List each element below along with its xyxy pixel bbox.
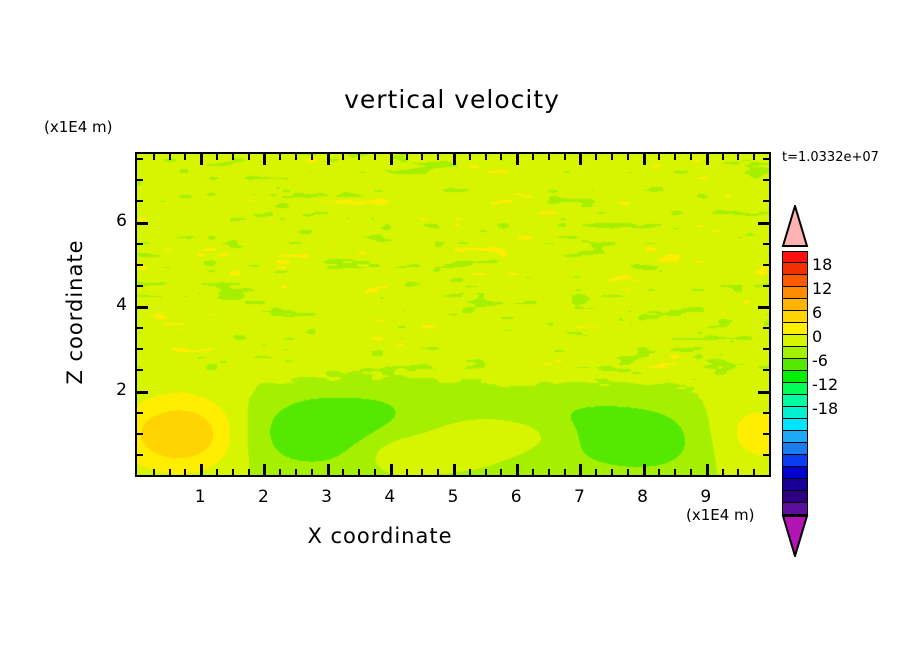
axis-tick xyxy=(737,154,739,160)
axis-tick xyxy=(758,306,769,309)
axis-tick xyxy=(485,154,487,160)
x-axis-title: X coordinate xyxy=(0,524,760,548)
colorbar-tick-label: -18 xyxy=(812,399,838,418)
colorbar-band xyxy=(782,323,808,335)
axis-tick xyxy=(548,469,550,475)
axis-tick xyxy=(753,154,755,160)
axis-tick xyxy=(153,469,155,475)
colorbar-band xyxy=(782,419,808,431)
x-tick-label: 2 xyxy=(238,487,288,507)
axis-tick xyxy=(485,469,487,475)
axis-tick xyxy=(200,154,203,165)
axis-tick xyxy=(737,469,739,475)
axis-tick xyxy=(137,179,143,181)
axis-tick xyxy=(295,469,297,475)
axis-tick xyxy=(137,369,143,371)
axis-tick xyxy=(763,243,769,245)
axis-tick xyxy=(327,154,330,165)
axis-tick xyxy=(579,464,582,475)
axis-tick xyxy=(763,285,769,287)
axis-tick xyxy=(706,154,709,165)
axis-tick xyxy=(437,469,439,475)
axis-tick xyxy=(763,200,769,202)
axis-tick xyxy=(763,158,769,160)
axis-tick xyxy=(579,154,582,165)
timestamp-annotation: t=1.0332e+07 xyxy=(782,150,879,165)
axis-tick xyxy=(611,469,613,475)
axis-tick xyxy=(500,154,502,160)
axis-tick xyxy=(595,469,597,475)
colorbar-tick-label: -6 xyxy=(812,351,828,370)
axis-tick xyxy=(753,469,755,475)
axis-tick xyxy=(137,285,143,287)
axis-tick xyxy=(722,154,724,160)
axis-tick xyxy=(232,154,234,160)
axis-tick xyxy=(279,469,281,475)
axis-tick xyxy=(690,469,692,475)
axis-tick xyxy=(627,469,629,475)
x-tick-label: 6 xyxy=(491,487,541,507)
axis-tick xyxy=(137,222,148,225)
colorbar-band xyxy=(782,299,808,311)
axis-tick xyxy=(137,158,143,160)
axis-tick xyxy=(311,469,313,475)
axis-tick xyxy=(406,154,408,160)
axis-tick xyxy=(216,154,218,160)
axis-tick xyxy=(763,454,769,456)
colorbar-band xyxy=(782,467,808,479)
axis-tick xyxy=(374,469,376,475)
colorbar-band xyxy=(782,311,808,323)
colorbar-tick-label: 0 xyxy=(812,327,822,346)
colorbar-band xyxy=(782,503,808,515)
axis-tick xyxy=(763,369,769,371)
x-tick-label: 8 xyxy=(618,487,668,507)
axis-tick xyxy=(532,154,534,160)
colorbar-band xyxy=(782,443,808,455)
axis-tick xyxy=(548,154,550,160)
vertical-velocity-field xyxy=(137,154,769,475)
axis-tick xyxy=(169,469,171,475)
colorbar-tick-label: 12 xyxy=(812,279,832,298)
axis-tick xyxy=(763,264,769,266)
axis-tick xyxy=(248,154,250,160)
x-tick-label: 4 xyxy=(365,487,415,507)
axis-tick xyxy=(342,469,344,475)
colorbar-band xyxy=(782,395,808,407)
axis-tick xyxy=(184,469,186,475)
axis-tick xyxy=(248,469,250,475)
colorbar-band xyxy=(782,491,808,503)
axis-tick xyxy=(295,154,297,160)
x-tick-label: 3 xyxy=(302,487,352,507)
axis-tick xyxy=(763,348,769,350)
axis-tick xyxy=(263,154,266,165)
axis-tick xyxy=(390,154,393,165)
page-title: vertical velocity xyxy=(0,85,904,114)
axis-tick xyxy=(232,469,234,475)
colorbar-tick-label: -12 xyxy=(812,375,838,394)
axis-tick xyxy=(564,154,566,160)
colorbar-legend[interactable] xyxy=(781,205,809,561)
colorbar-band xyxy=(782,407,808,419)
axis-tick xyxy=(200,464,203,475)
axis-tick xyxy=(137,243,143,245)
axis-tick xyxy=(216,469,218,475)
y-axis-unit-label: (x1E4 m) xyxy=(44,118,113,136)
colorbar-band xyxy=(782,335,808,347)
axis-tick xyxy=(763,433,769,435)
colorbar-band xyxy=(782,347,808,359)
colorbar-band xyxy=(782,251,808,263)
axis-tick xyxy=(758,222,769,225)
axis-tick xyxy=(184,154,186,160)
axis-tick xyxy=(358,469,360,475)
x-tick-label: 9 xyxy=(681,487,731,507)
axis-tick xyxy=(137,433,143,435)
axis-tick xyxy=(763,327,769,329)
x-tick-label: 1 xyxy=(175,487,225,507)
axis-tick xyxy=(516,154,519,165)
axis-tick xyxy=(564,469,566,475)
colorbar-band xyxy=(782,359,808,371)
colorbar-band xyxy=(782,287,808,299)
axis-tick xyxy=(327,464,330,475)
axis-tick xyxy=(390,464,393,475)
axis-tick xyxy=(263,464,266,475)
y-tick-label: 2 xyxy=(103,380,127,400)
axis-tick xyxy=(137,412,143,414)
axis-tick xyxy=(358,154,360,160)
axis-tick xyxy=(643,464,646,475)
axis-tick xyxy=(658,469,660,475)
axis-tick xyxy=(437,154,439,160)
axis-tick xyxy=(421,469,423,475)
axis-tick xyxy=(758,391,769,394)
axis-tick xyxy=(690,154,692,160)
axis-tick xyxy=(706,464,709,475)
axis-tick xyxy=(311,154,313,160)
y-tick-label: 4 xyxy=(103,295,127,315)
axis-tick xyxy=(169,154,171,160)
colorbar-band xyxy=(782,479,808,491)
x-tick-label: 5 xyxy=(428,487,478,507)
colorbar-band xyxy=(782,431,808,443)
x-tick-label: 7 xyxy=(554,487,604,507)
axis-tick xyxy=(611,154,613,160)
colorbar-under-arrow xyxy=(781,515,809,561)
axis-tick xyxy=(137,391,148,394)
y-axis-title: Z coordinate xyxy=(63,212,87,412)
axis-tick xyxy=(674,469,676,475)
colorbar-band xyxy=(782,371,808,383)
colorbar-band xyxy=(782,383,808,395)
y-tick-label: 6 xyxy=(103,211,127,231)
colorbar-band xyxy=(782,275,808,287)
axis-tick xyxy=(279,154,281,160)
colorbar-band xyxy=(782,455,808,467)
colorbar-band xyxy=(782,263,808,275)
axis-tick xyxy=(674,154,676,160)
colorbar-tick-label: 6 xyxy=(812,303,822,322)
contour-plot-area[interactable] xyxy=(135,152,771,477)
axis-tick xyxy=(500,469,502,475)
axis-tick xyxy=(453,464,456,475)
axis-tick xyxy=(137,454,143,456)
axis-tick xyxy=(137,348,143,350)
axis-tick xyxy=(406,469,408,475)
axis-tick xyxy=(469,154,471,160)
x-axis-unit-label: (x1E4 m) xyxy=(686,506,755,524)
axis-tick xyxy=(374,154,376,160)
axis-tick xyxy=(137,327,143,329)
axis-tick xyxy=(763,179,769,181)
axis-tick xyxy=(658,154,660,160)
axis-tick xyxy=(763,412,769,414)
axis-tick xyxy=(421,154,423,160)
axis-tick xyxy=(469,469,471,475)
axis-tick xyxy=(137,200,143,202)
axis-tick xyxy=(516,464,519,475)
axis-tick xyxy=(532,469,534,475)
axis-tick xyxy=(453,154,456,165)
axis-tick xyxy=(595,154,597,160)
axis-tick xyxy=(153,154,155,160)
axis-tick xyxy=(643,154,646,165)
axis-tick xyxy=(722,469,724,475)
axis-tick xyxy=(137,264,143,266)
axis-tick xyxy=(137,306,148,309)
colorbar-tick-label: 18 xyxy=(812,255,832,274)
axis-tick xyxy=(627,154,629,160)
axis-tick xyxy=(342,154,344,160)
colorbar-over-arrow xyxy=(781,205,809,251)
